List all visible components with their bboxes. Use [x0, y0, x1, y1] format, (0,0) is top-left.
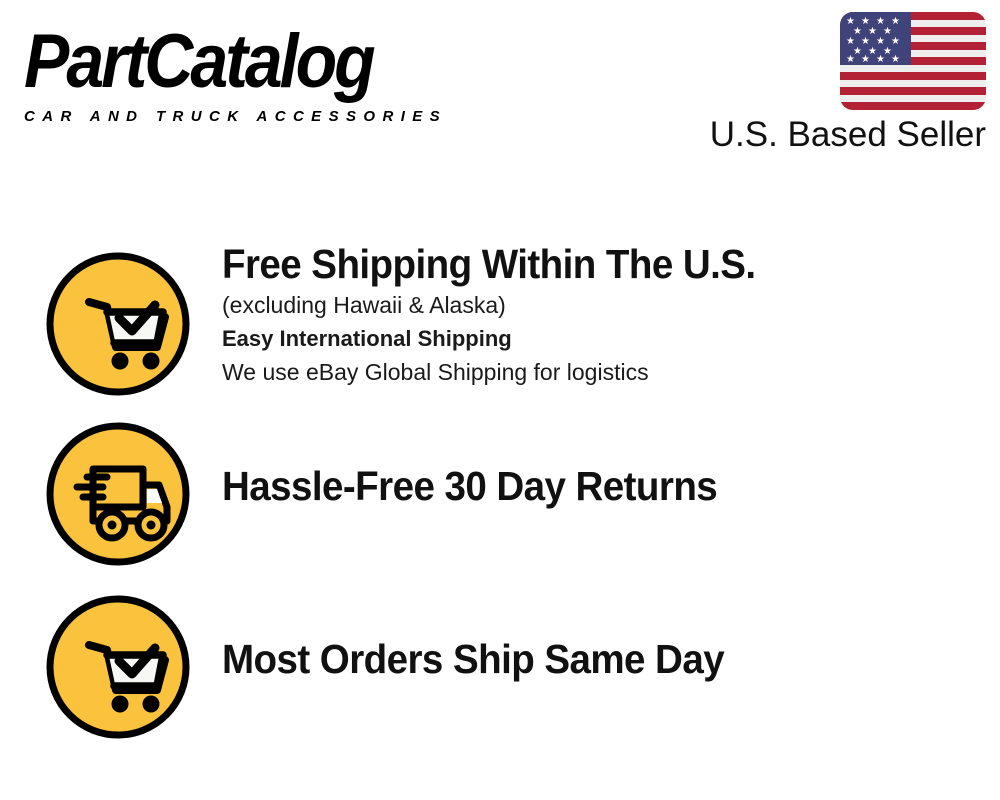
shopping-cart-check-icon	[45, 251, 191, 397]
delivery-truck-icon	[45, 421, 191, 567]
feature-title: Most Orders Ship Same Day	[222, 635, 936, 683]
feature-text-block: Most Orders Ship Same Day	[222, 635, 982, 683]
shopping-cart-check-icon	[45, 594, 191, 740]
feature-text-block: Free Shipping Within The U.S. (excluding…	[222, 240, 982, 389]
feature-text-block: Hassle-Free 30 Day Returns	[222, 462, 982, 510]
feature-list: Free Shipping Within The U.S. (excluding…	[0, 0, 1000, 800]
feature-subtitle: We use eBay Global Shipping for logistic…	[222, 355, 982, 389]
feature-subtitle-bold: Easy International Shipping	[222, 322, 982, 355]
feature-title: Hassle-Free 30 Day Returns	[222, 462, 936, 510]
feature-subtitle: (excluding Hawaii & Alaska)	[222, 288, 982, 322]
feature-title: Free Shipping Within The U.S.	[222, 240, 936, 288]
